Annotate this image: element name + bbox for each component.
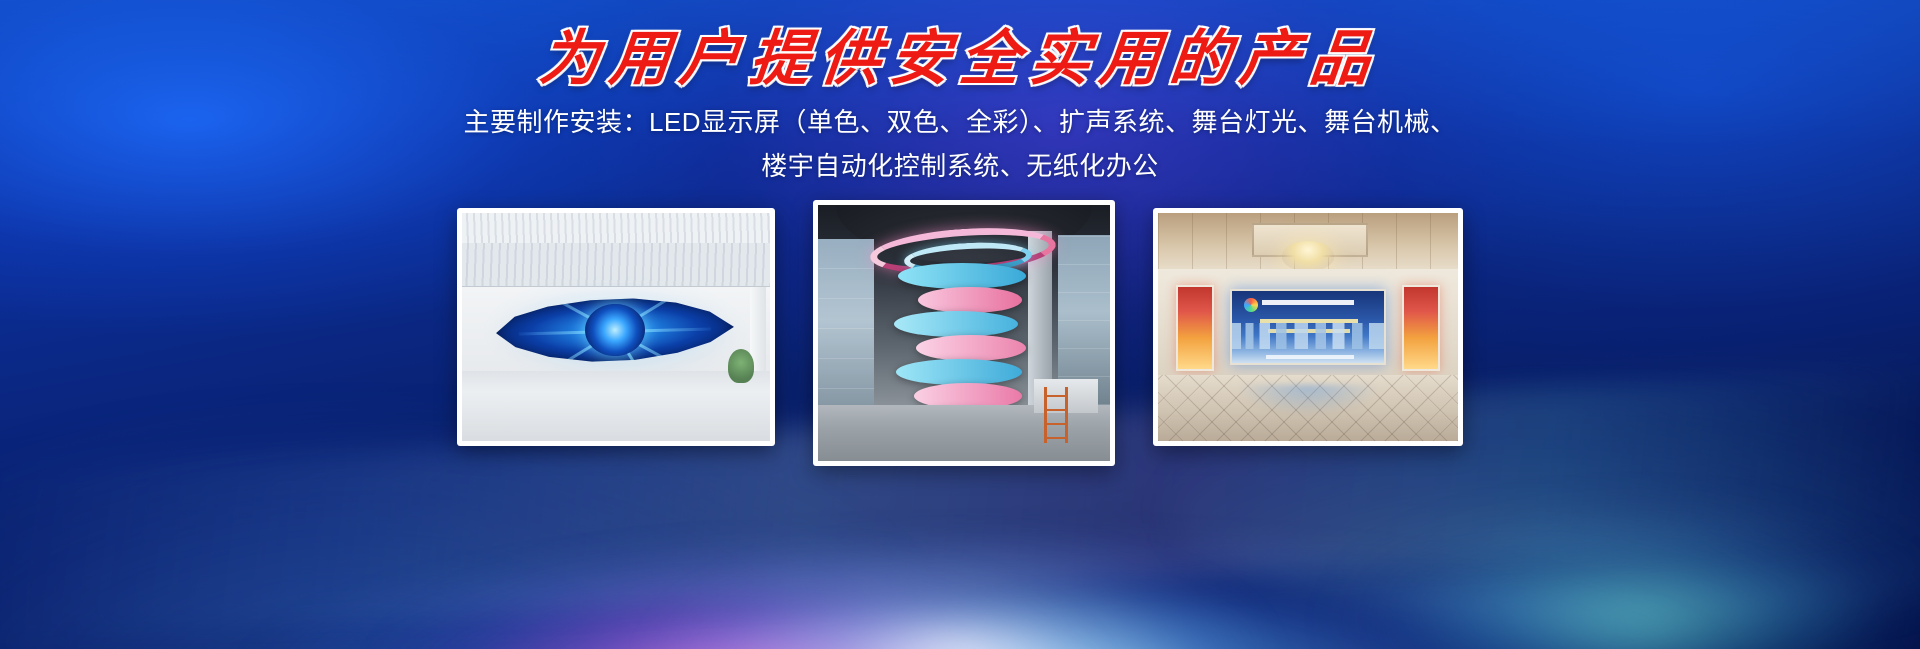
ladder-rung — [1044, 437, 1068, 439]
subtitle-line-2: 楼宇自动化控制系统、无纸化办公 — [0, 144, 1920, 188]
light-ray-teal — [1220, 439, 1920, 649]
light-ray-white — [520, 439, 1400, 649]
screen-title-line — [1262, 300, 1354, 305]
light-spoke — [615, 327, 711, 333]
potted-plant — [728, 349, 754, 383]
photo-eye-shaped-led-screen-lobby — [462, 213, 770, 441]
helix-segment — [918, 287, 1022, 313]
screen-footer-line — [1266, 355, 1354, 359]
floor-reflection — [1238, 385, 1378, 415]
helix-segment — [916, 335, 1026, 361]
hero-banner: 为用户提供安全实用的产品 主要制作安装：LED显示屏（单色、双色、全彩）、扩声系… — [0, 0, 1920, 649]
photo-conference-hall-led-screen — [1158, 213, 1458, 441]
chandelier-icon — [1282, 241, 1334, 271]
photo-spiral-flexible-led-display — [818, 205, 1110, 461]
headline-container: 为用户提供安全实用的产品 — [0, 24, 1920, 94]
side-led-panel-right — [1402, 285, 1440, 371]
subtitle-block: 主要制作安装：LED显示屏（单色、双色、全彩）、扩声系统、舞台灯光、舞台机械、 … — [0, 100, 1920, 188]
gallery-item-eye-shaped-led-screen-lobby[interactable] — [457, 208, 775, 446]
ladder-rung — [1044, 423, 1068, 425]
light-spoke — [519, 330, 615, 336]
gallery-item-conference-hall-led-screen[interactable] — [1153, 208, 1463, 446]
screen-skyline-graphic — [1232, 323, 1384, 349]
helix-segment — [896, 359, 1022, 385]
floor-surface — [462, 371, 770, 441]
window-wall-left — [818, 239, 874, 419]
helix-segment — [898, 263, 1026, 289]
step-ladder — [1042, 387, 1070, 443]
gallery-item-spiral-flexible-led-display[interactable] — [813, 200, 1115, 466]
subtitle-line-1: 主要制作安装：LED显示屏（单色、双色、全彩）、扩声系统、舞台灯光、舞台机械、 — [0, 100, 1920, 144]
page-title: 为用户提供安全实用的产品 — [536, 24, 1383, 94]
ceiling-strip — [462, 213, 770, 243]
ladder-rung — [1044, 409, 1068, 411]
company-logo-icon — [1244, 298, 1258, 312]
side-led-panel-left — [1176, 285, 1214, 371]
project-gallery — [0, 200, 1920, 470]
helix-segment — [894, 311, 1018, 337]
main-led-screen — [1230, 289, 1386, 365]
ladder-rung — [1044, 395, 1068, 397]
